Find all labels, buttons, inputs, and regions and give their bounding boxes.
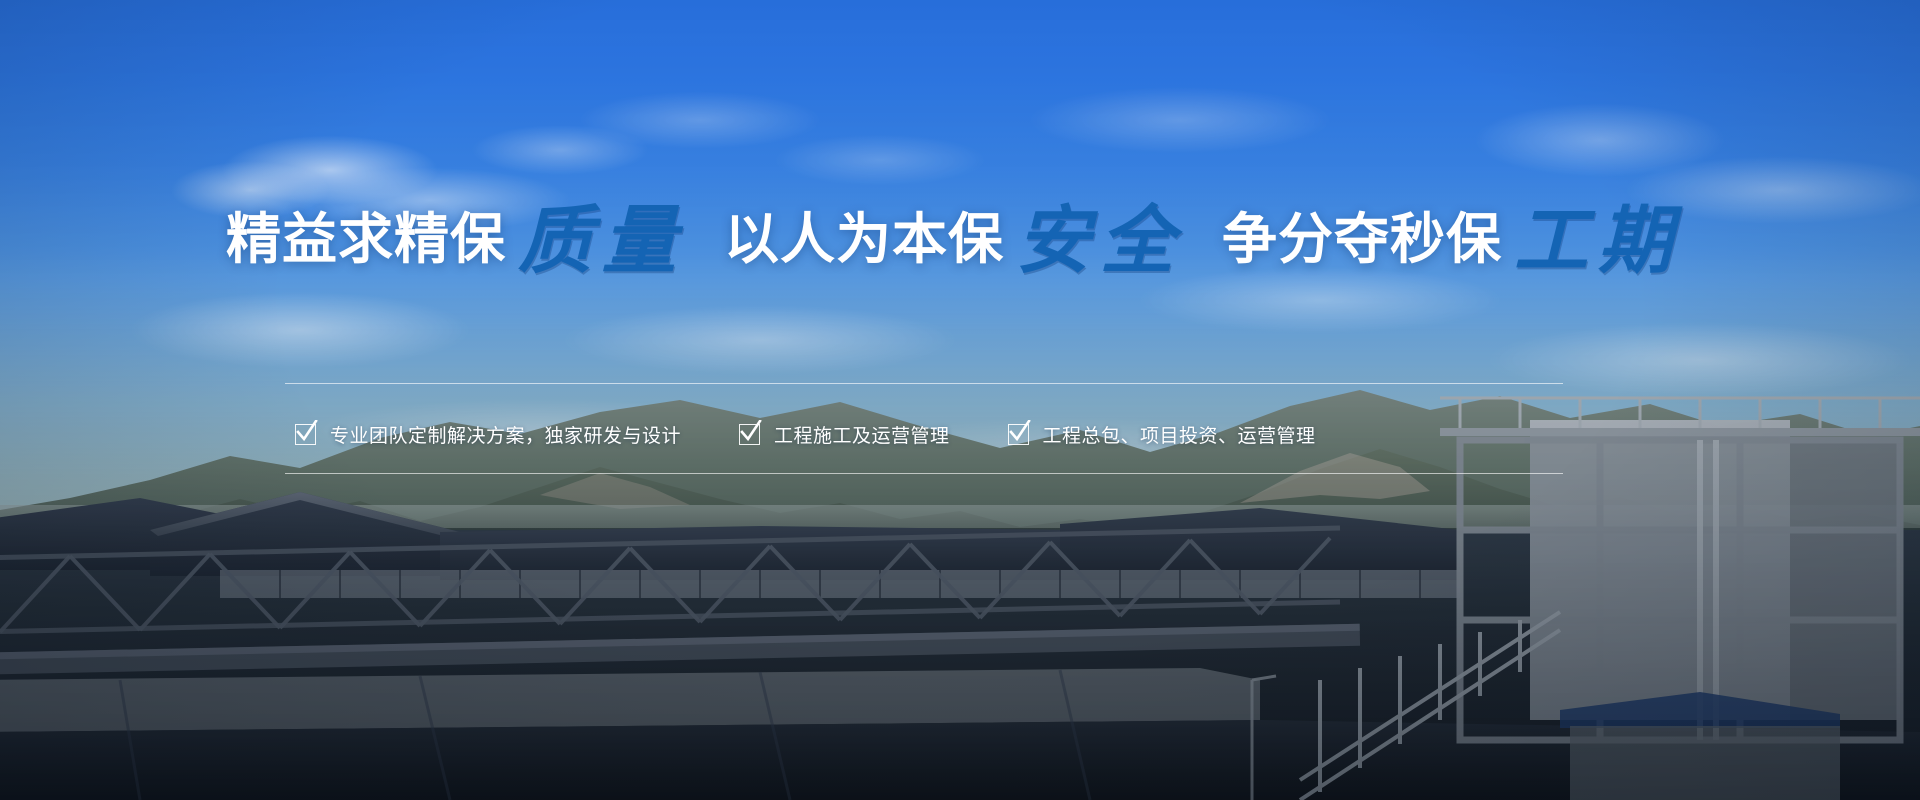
headline-segment-2: 质量 <box>506 198 698 284</box>
divider-bottom <box>285 473 1563 474</box>
divider-top <box>285 383 1563 384</box>
headline-segment-3: 以人为本保 <box>724 208 1004 270</box>
banner-overlay: 精益求精保质量以人为本保安全争分夺秒保工期 专业团队定制解决方案，独家研发与设计… <box>0 0 1920 800</box>
headline-segment-5: 争分夺秒保 <box>1222 208 1502 270</box>
hero-banner: 精益求精保质量以人为本保安全争分夺秒保工期 专业团队定制解决方案，独家研发与设计… <box>0 0 1920 800</box>
banner-headline: 精益求精保质量以人为本保安全争分夺秒保工期 <box>0 196 1920 270</box>
headline-segment-6: 工期 <box>1502 198 1694 284</box>
feature-item-2[interactable]: 工程施工及运营管理 <box>739 421 950 448</box>
headline-segment-1: 精益求精保 <box>226 208 506 270</box>
checkbox-checked-icon <box>739 424 760 445</box>
feature-label: 工程总包、项目投资、运营管理 <box>1043 421 1316 448</box>
feature-label: 专业团队定制解决方案，独家研发与设计 <box>330 421 681 448</box>
headline-segment-4: 安全 <box>1004 198 1196 284</box>
checkbox-checked-icon <box>1008 424 1029 445</box>
feature-label: 工程施工及运营管理 <box>774 421 950 448</box>
feature-list: 专业团队定制解决方案，独家研发与设计工程施工及运营管理工程总包、项目投资、运营管… <box>285 396 1563 472</box>
feature-item-1[interactable]: 专业团队定制解决方案，独家研发与设计 <box>295 421 681 448</box>
checkbox-checked-icon <box>295 424 316 445</box>
feature-item-3[interactable]: 工程总包、项目投资、运营管理 <box>1008 421 1316 448</box>
